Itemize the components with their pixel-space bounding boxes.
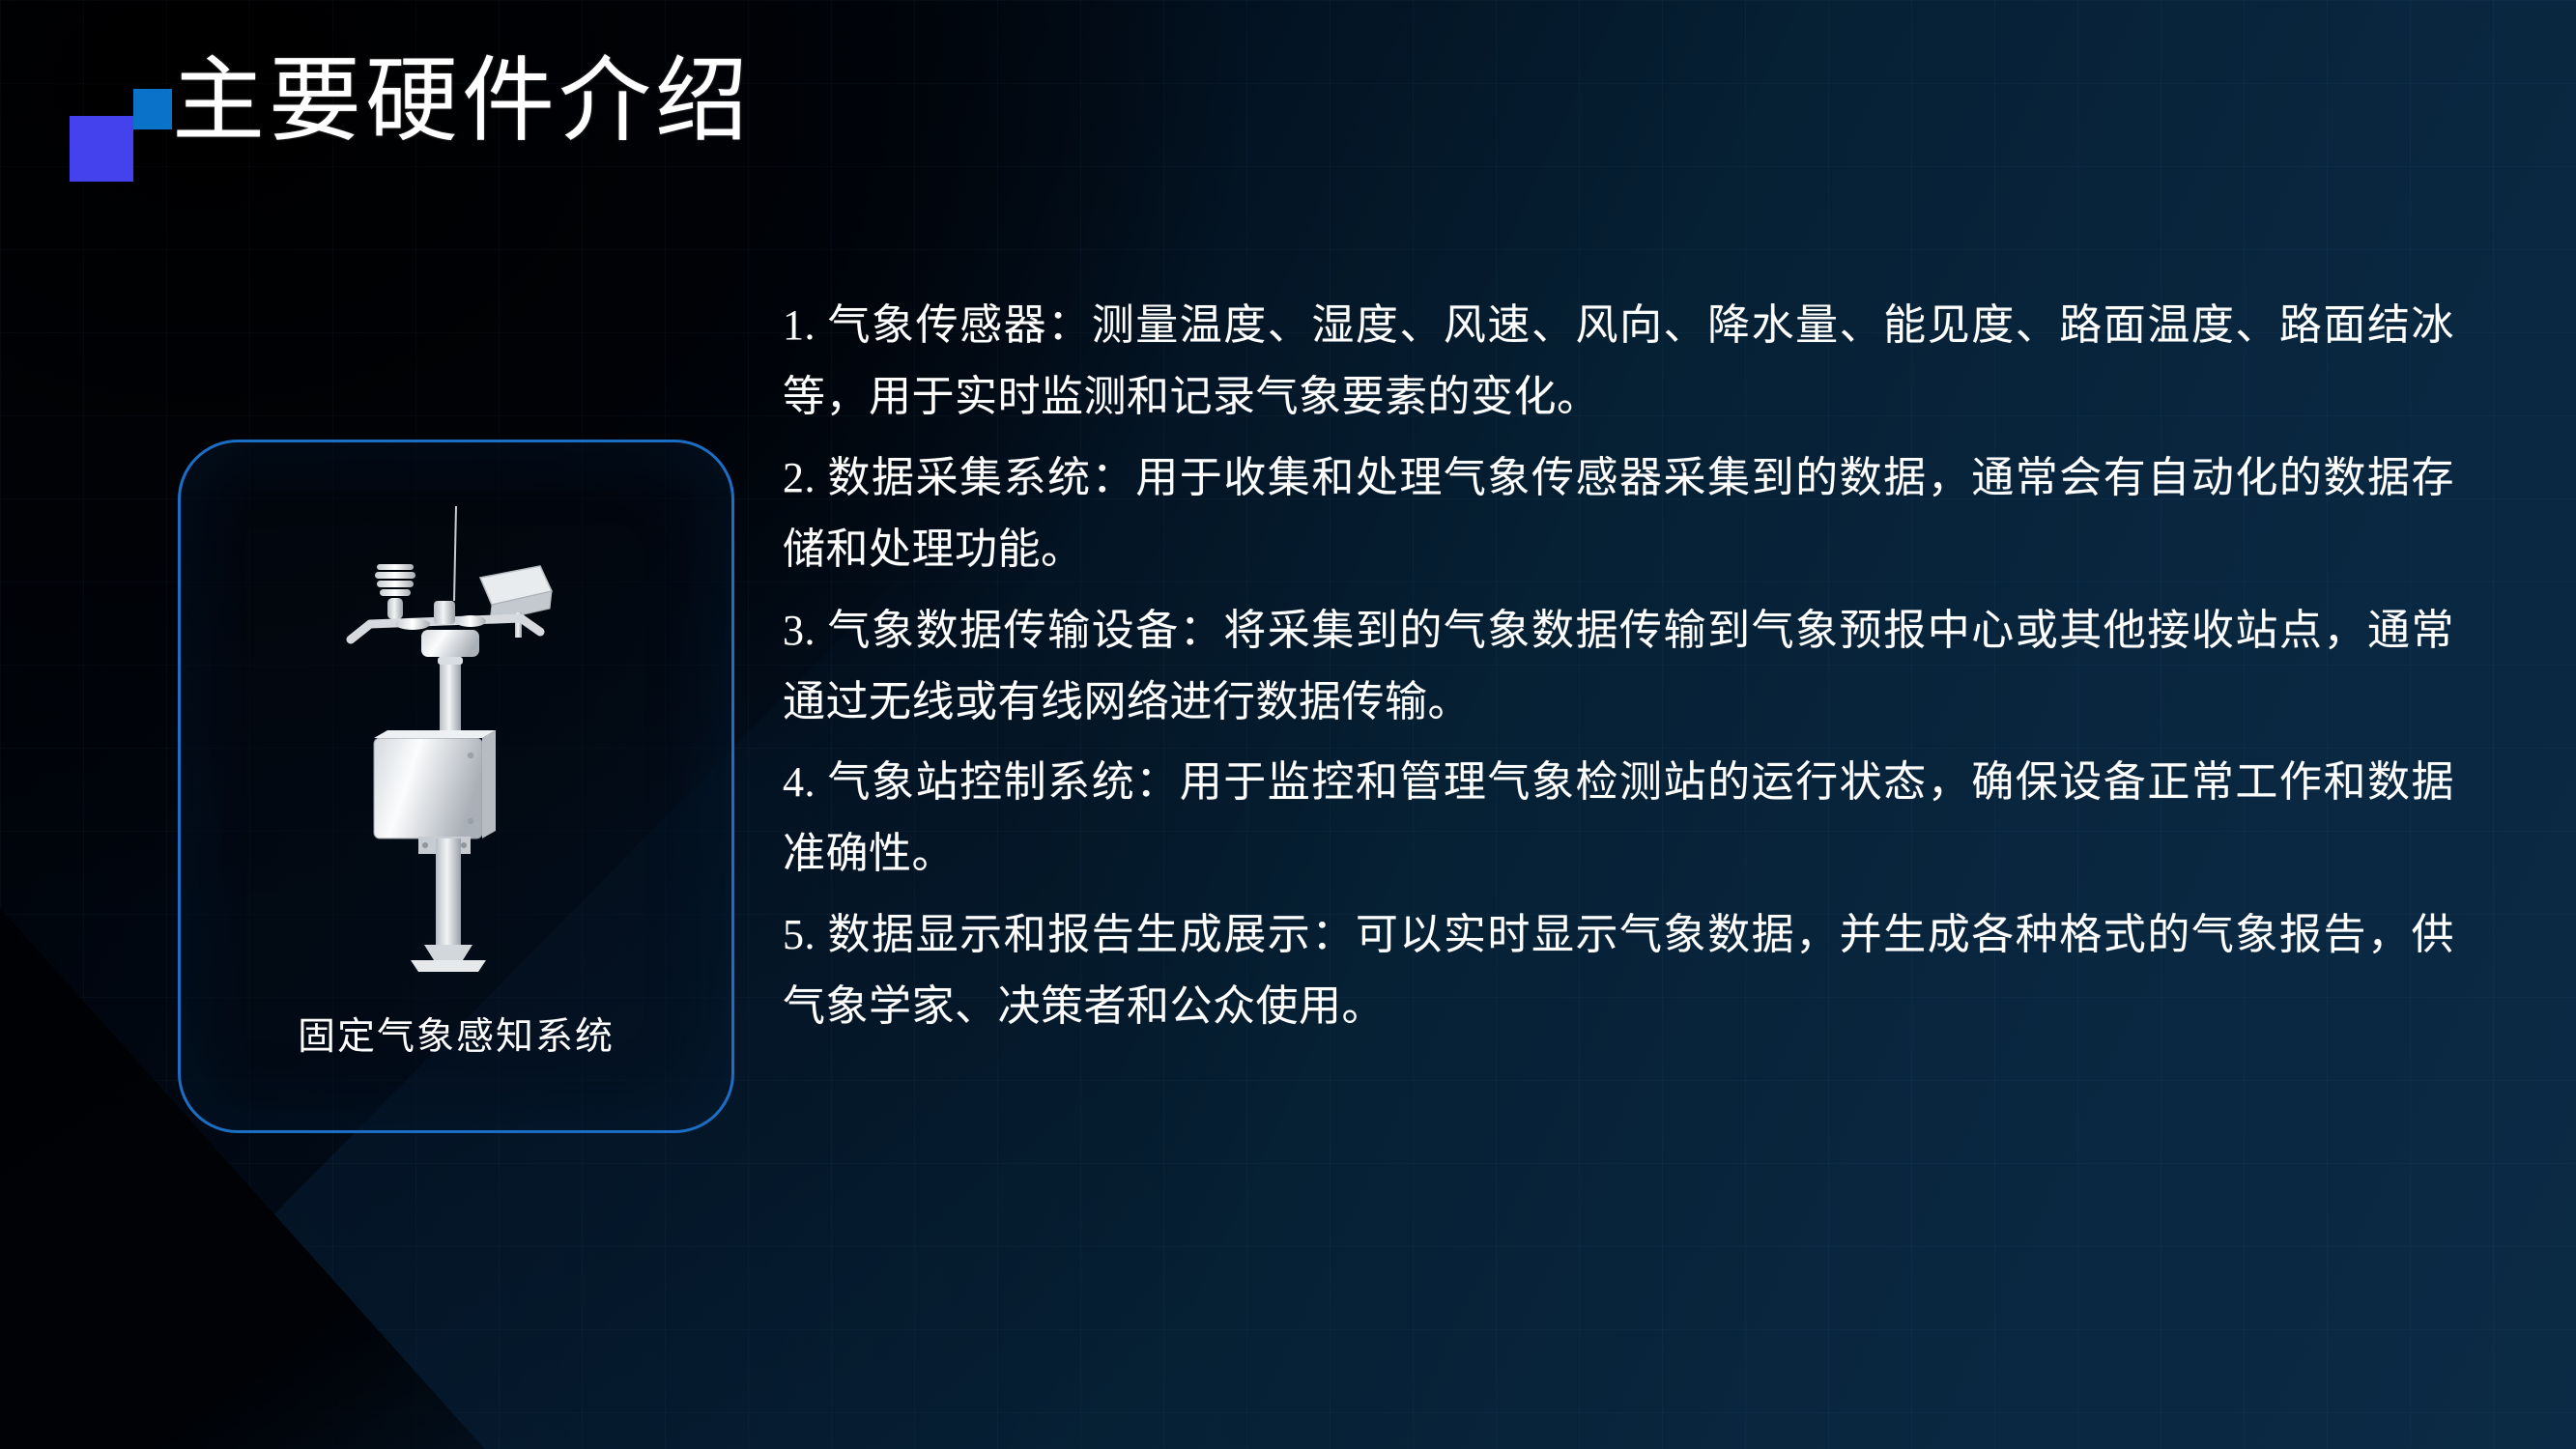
list-item-number: 2.: [783, 454, 816, 501]
list-item-number: 1.: [783, 301, 816, 349]
list-item-text: 气象数据传输设备：将采集到的气象数据传输到气象预报中心或其他接收站点，通常通过无…: [783, 607, 2454, 725]
list-item-text: 数据显示和报告生成展示：可以实时显示气象数据，并生成各种格式的气象报告，供气象学…: [783, 911, 2454, 1030]
list-item-text: 数据采集系统：用于收集和处理气象传感器采集到的数据，通常会有自动化的数据存储和处…: [783, 454, 2454, 573]
list-item-number: 4.: [783, 758, 816, 806]
list-item: 2. 数据采集系统：用于收集和处理气象传感器采集到的数据，通常会有自动化的数据存…: [783, 442, 2454, 585]
content-list: 1. 气象传感器：测量温度、湿度、风速、风向、降水量、能见度、路面温度、路面结冰…: [783, 290, 2454, 1052]
logo-large-square-icon: [70, 116, 133, 182]
list-item: 1. 气象传感器：测量温度、湿度、风速、风向、降水量、能见度、路面温度、路面结冰…: [783, 290, 2454, 433]
media-card-caption: 固定气象感知系统: [181, 1007, 731, 1061]
logo-squares-icon: [70, 89, 162, 182]
list-item-text: 气象传感器：测量温度、湿度、风速、风向、降水量、能见度、路面温度、路面结冰等，用…: [783, 301, 2454, 420]
weather-station-illustration: [181, 477, 731, 989]
media-card: 固定气象感知系统: [178, 440, 734, 1133]
slide-root: 主要硬件介绍: [0, 0, 2576, 1449]
list-item: 4. 气象站控制系统：用于监控和管理气象检测站的运行状态，确保设备正常工作和数据…: [783, 747, 2454, 890]
list-item: 3. 气象数据传输设备：将采集到的气象数据传输到气象预报中心或其他接收站点，通常…: [783, 595, 2454, 738]
slide-header: 主要硬件介绍: [0, 0, 2576, 222]
list-item: 5. 数据显示和报告生成展示：可以实时显示气象数据，并生成各种格式的气象报告，供…: [783, 899, 2454, 1042]
list-item-number: 3.: [783, 607, 816, 654]
list-item-text: 气象站控制系统：用于监控和管理气象检测站的运行状态，确保设备正常工作和数据准确性…: [783, 758, 2454, 877]
logo-small-square-icon: [133, 89, 172, 129]
page-title: 主要硬件介绍: [172, 48, 752, 155]
list-item-number: 5.: [783, 911, 816, 958]
